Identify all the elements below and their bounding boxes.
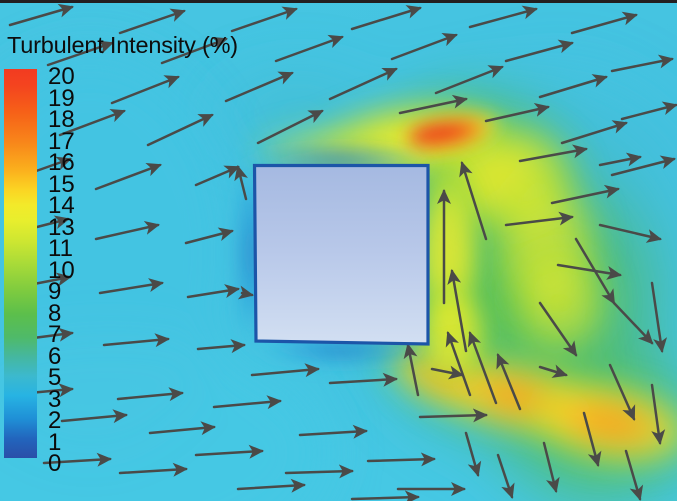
colorbar-tick-label: 0	[48, 452, 61, 476]
turbulent-intensity-contour-field	[0, 3, 677, 501]
colorbar-tick-labels: 20191817161514131110987653210	[48, 58, 92, 478]
cfd-contour-figure: Turbulent Intensity (%) 2019181716151413…	[0, 0, 677, 501]
colorbar-gradient	[4, 69, 37, 458]
colorbar-title: Turbulent Intensity (%)	[7, 31, 238, 59]
